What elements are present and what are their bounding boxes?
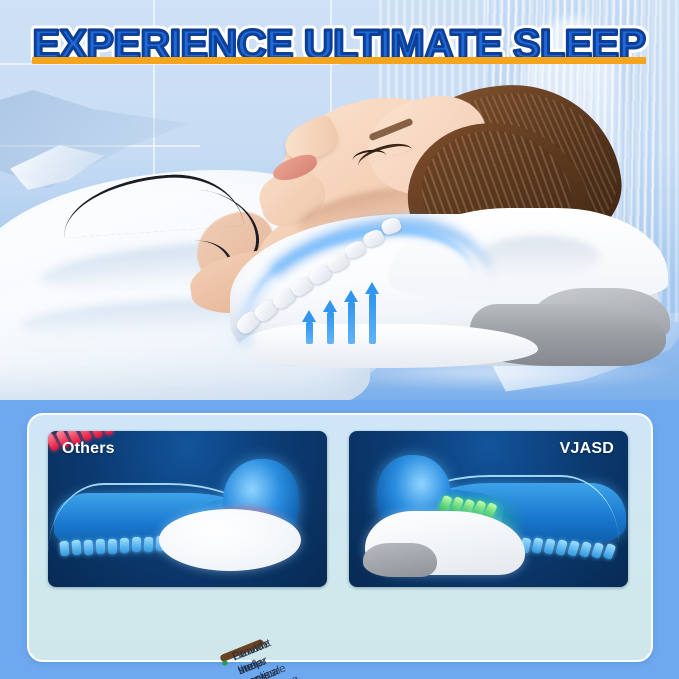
contour-pillow-base [363,543,437,577]
vertebra [144,537,154,552]
panel-others: Others [48,431,327,587]
vertebra [555,539,568,556]
vertebra [380,216,403,236]
support-arrows [302,272,452,344]
vertebra [84,540,94,556]
support-arrow-icon [344,290,359,344]
comparison-panels: Others VJASD [48,431,636,587]
vertebra [543,538,555,555]
arrow-head [365,282,379,294]
vertebra [132,537,141,552]
panel-label-vjasd: VJASD [560,440,614,458]
arrow-shaft [306,322,313,344]
vertebra [579,541,592,558]
arrow-head [323,300,337,312]
vertebra [71,540,81,556]
arrow-shaft [369,294,376,344]
arrow-shaft [348,302,355,344]
headline-graphic: EXPERIENCE ULTIMATE SLEEP EXPERIENCE ULT… [0,8,679,86]
vertebra [591,542,604,559]
vertebra [59,541,70,557]
arrow-head [302,310,316,322]
vertebra [108,539,117,554]
bullet-dot-icon [222,660,229,667]
arrow-head [344,290,358,302]
cervical-pillow [230,196,679,386]
bullet-text: Provide stellar neck support and spinal … [230,632,282,658]
vertebra [120,538,129,553]
bullet-item: Provide stellar neck support and spinal … [219,639,264,663]
support-arrow-icon [302,310,317,344]
arrow-shaft [327,312,334,344]
pillow-dip-shadow [480,236,600,278]
comparison-card: Others VJASD [27,413,653,662]
vertebra [567,540,580,557]
support-arrow-icon [365,282,380,344]
flat-pillow-illustration [159,509,301,571]
vertebra [603,543,617,560]
panel-label-others: Others [62,440,115,458]
headline-underline [32,57,646,64]
vertebra [531,538,543,555]
product-ad-page: EXPERIENCE ULTIMATE SLEEP EXPERIENCE ULT… [0,0,679,679]
support-arrow-icon [323,300,338,344]
hero-section: EXPERIENCE ULTIMATE SLEEP EXPERIENCE ULT… [0,0,679,400]
panel-vjasd: VJASD [349,431,628,587]
vertebra [96,539,106,554]
